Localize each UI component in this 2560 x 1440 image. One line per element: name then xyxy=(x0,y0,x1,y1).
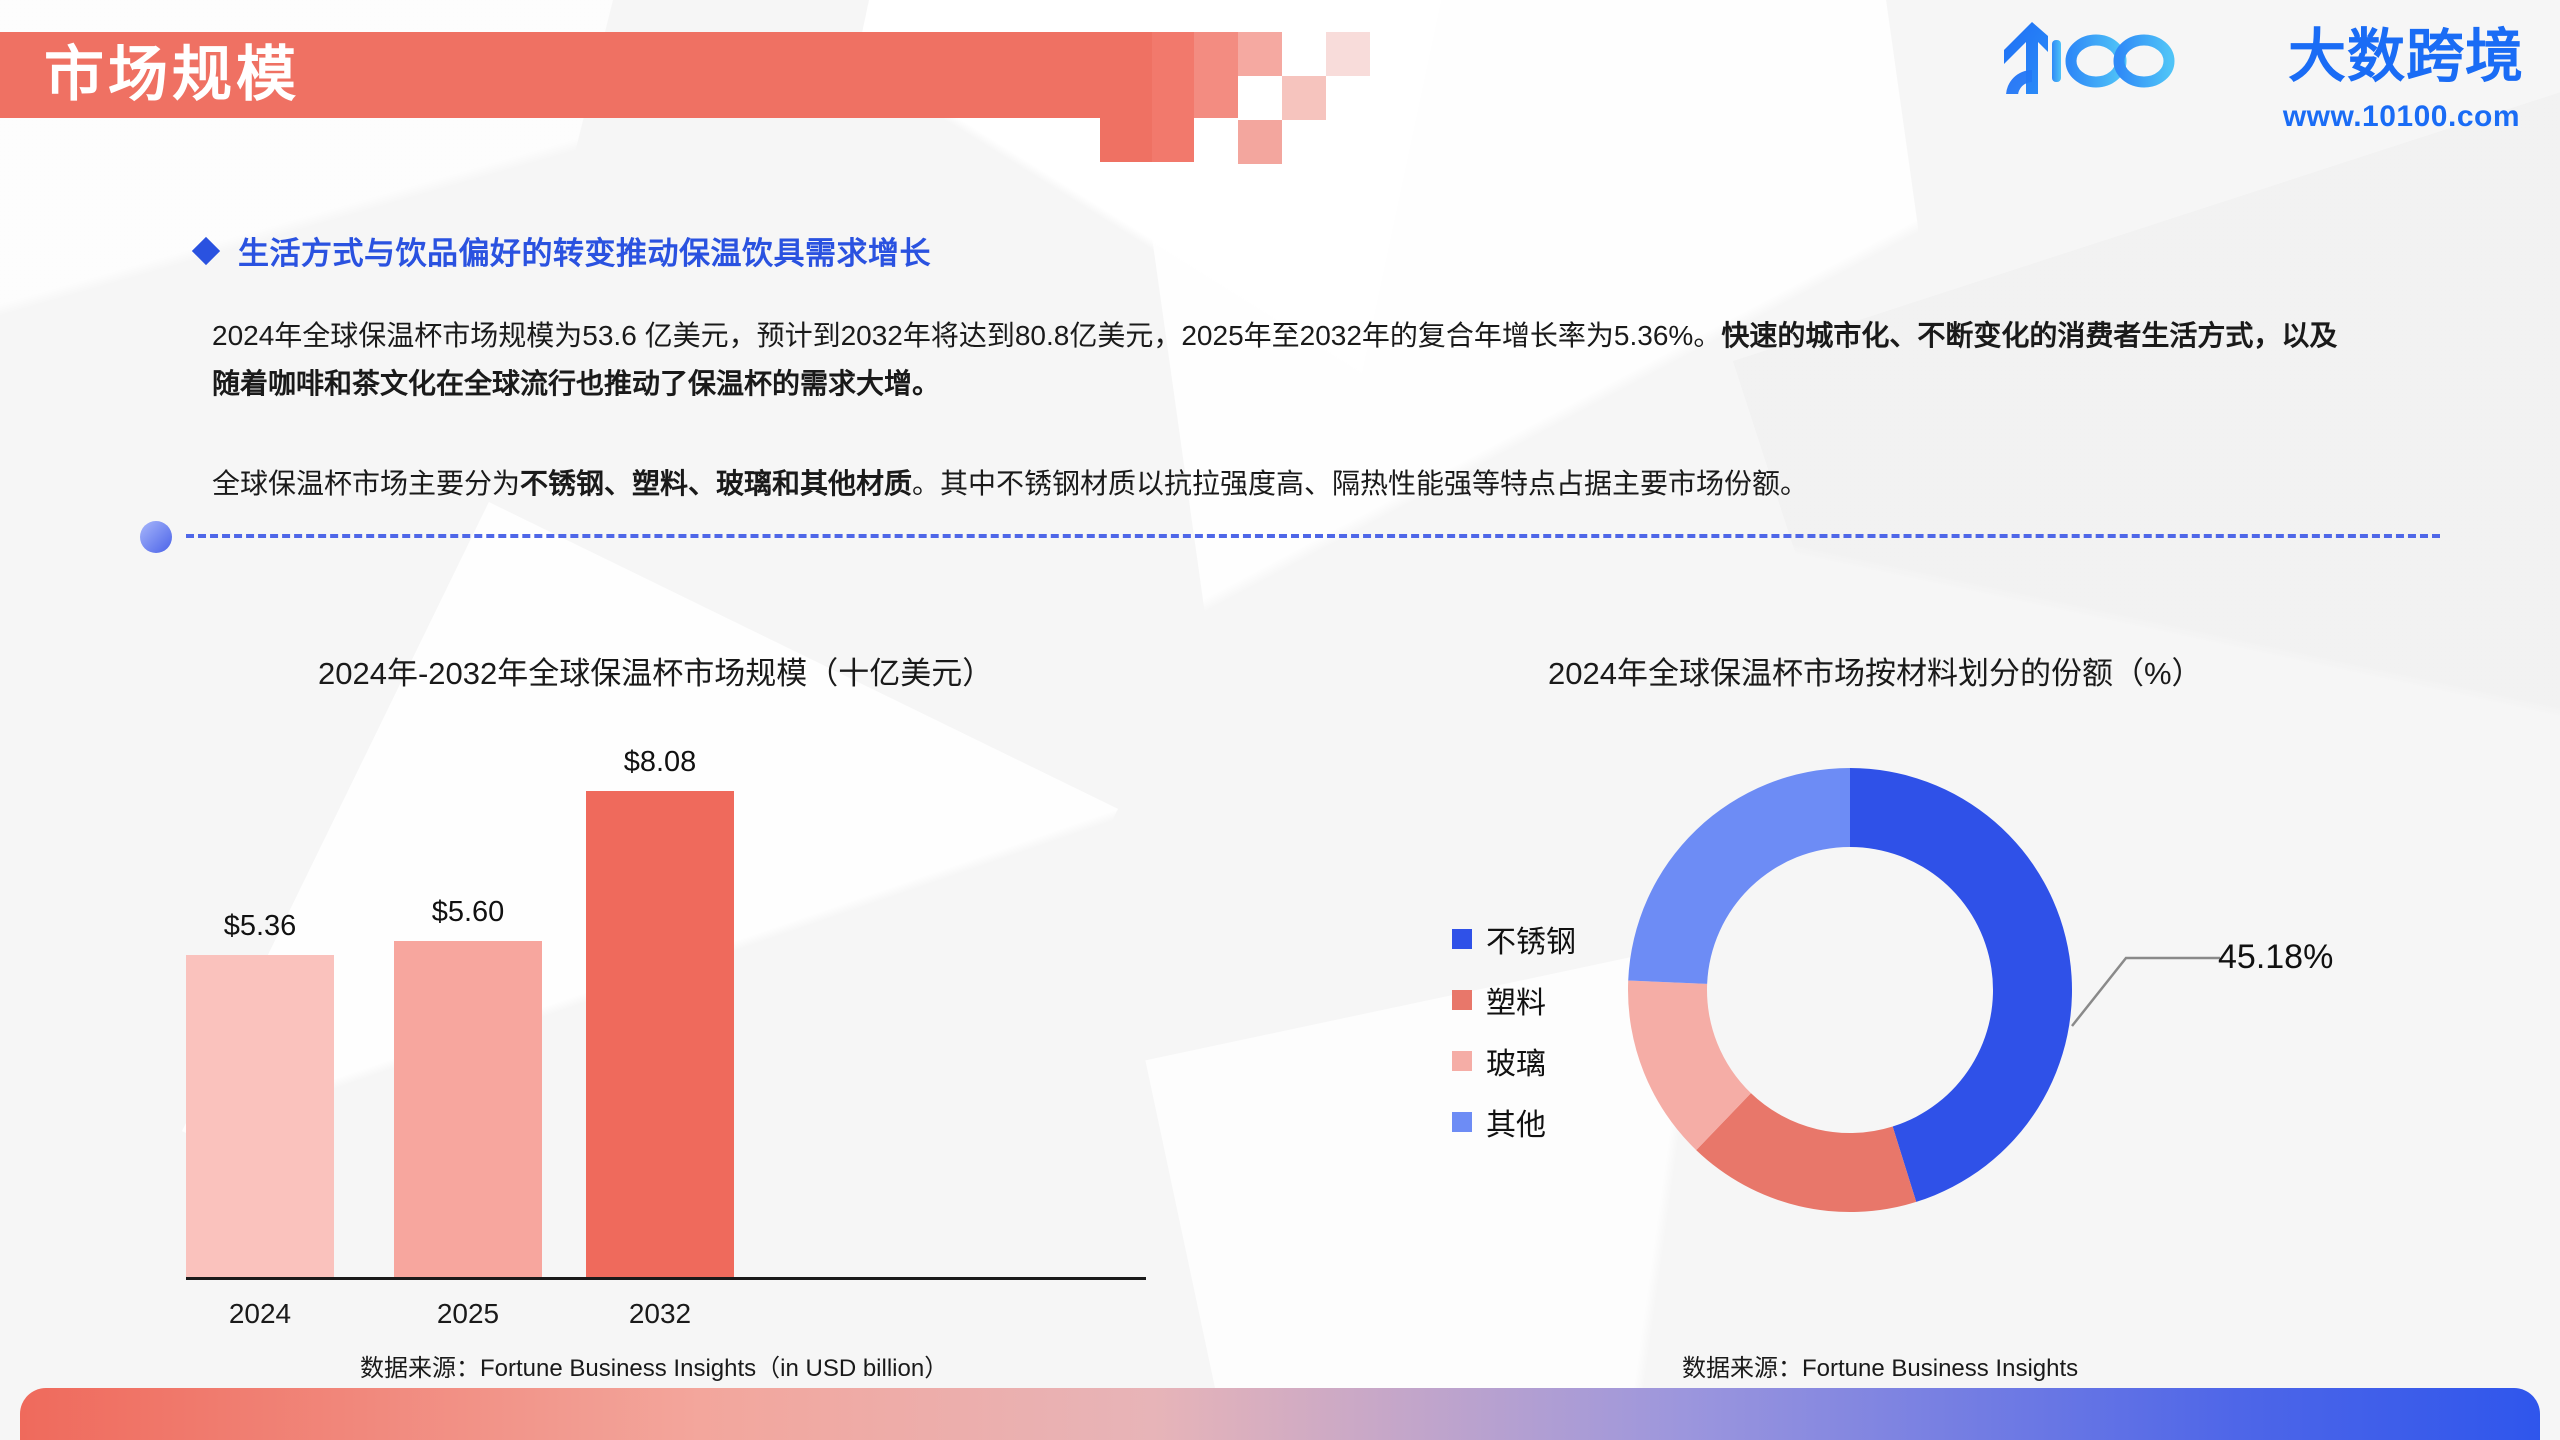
divider-dashed-line xyxy=(186,534,2440,538)
paragraph-2-bold: 不锈钢、塑料、玻璃和其他材质 xyxy=(520,468,912,499)
bar-chart-source: 数据来源：Fortune Business Insights（in USD bi… xyxy=(360,1348,948,1383)
logo-brand-text: 大数跨境 xyxy=(2288,25,2524,89)
legend-label: 其他 xyxy=(1486,1100,1546,1144)
paragraph-2: 全球保温杯市场主要分为不锈钢、塑料、玻璃和其他材质。其中不锈钢材质以抗拉强度高、… xyxy=(212,460,2364,508)
bar-category-label: 2032 xyxy=(586,1298,734,1330)
legend-label: 玻璃 xyxy=(1486,1039,1546,1083)
legend-item[interactable]: 不锈钢 xyxy=(1452,920,1576,957)
logo-mark-icon xyxy=(1992,20,2282,94)
bar-value-label: $5.60 xyxy=(394,896,542,929)
paragraph-2-lead: 全球保温杯市场主要分为 xyxy=(212,468,520,499)
bar-rect[interactable] xyxy=(394,941,542,1280)
donut-slice[interactable] xyxy=(1628,768,1850,984)
footer-gradient-bar xyxy=(20,1388,2540,1440)
bar-category-label: 2024 xyxy=(186,1298,334,1330)
slide-canvas: 市场规模 xyxy=(0,0,2560,1440)
paragraph-1-normal: 2024年全球保温杯市场规模为53.6 亿美元，预计到2032年将达到80.8亿… xyxy=(212,320,1721,351)
legend-swatch-icon xyxy=(1452,990,1472,1010)
bar-category-label: 2025 xyxy=(394,1298,542,1330)
bar-chart-title: 2024年-2032年全球保温杯市场规模（十亿美元） xyxy=(318,648,993,693)
page-title: 市场规模 xyxy=(44,32,300,118)
donut-leader-line xyxy=(2070,900,2230,1030)
legend-swatch-icon xyxy=(1452,1112,1472,1132)
donut-legend: 不锈钢 塑料 玻璃 其他 xyxy=(1452,920,1576,1164)
bar-chart-axis xyxy=(186,1277,1146,1280)
donut-chart-title: 2024年全球保温杯市场按材料划分的份额（%） xyxy=(1548,648,2203,693)
header-mosaic xyxy=(1100,32,1560,166)
donut-chart xyxy=(1620,760,2080,1220)
bar-chart: $5.36 $5.60 $8.08 xyxy=(186,720,1146,1280)
bar-value-label: $8.08 xyxy=(586,746,734,779)
diamond-icon xyxy=(192,236,220,264)
divider-dot xyxy=(140,521,172,553)
legend-swatch-icon xyxy=(1452,1051,1472,1071)
section-divider xyxy=(140,521,2440,525)
legend-item[interactable]: 玻璃 xyxy=(1452,1042,1576,1079)
logo-url[interactable]: www.10100.com xyxy=(1992,100,2520,134)
donut-percent-label: 45.18% xyxy=(2218,938,2333,977)
paragraph-2-tail: 。其中不锈钢材质以抗拉强度高、隔热性能强等特点占据主要市场份额。 xyxy=(912,468,1808,499)
legend-item[interactable]: 其他 xyxy=(1452,1103,1576,1140)
bar-rect[interactable] xyxy=(186,955,334,1280)
bar-rect[interactable] xyxy=(586,791,734,1280)
legend-swatch-icon xyxy=(1452,929,1472,949)
paragraph-1: 2024年全球保温杯市场规模为53.6 亿美元，预计到2032年将达到80.8亿… xyxy=(212,312,2364,408)
legend-label: 塑料 xyxy=(1486,978,1546,1022)
brand-logo[interactable]: 大数跨境 www.10100.com xyxy=(1992,20,2524,134)
bar-value-label: $5.36 xyxy=(186,910,334,943)
section-heading-text: 生活方式与饮品偏好的转变推动保温饮具需求增长 xyxy=(238,228,931,273)
legend-item[interactable]: 塑料 xyxy=(1452,981,1576,1018)
legend-label: 不锈钢 xyxy=(1486,917,1576,961)
donut-chart-source: 数据来源：Fortune Business Insights xyxy=(1682,1348,2078,1383)
donut-slices[interactable] xyxy=(1628,768,2072,1212)
section-heading: 生活方式与饮品偏好的转变推动保温饮具需求增长 xyxy=(196,228,931,273)
